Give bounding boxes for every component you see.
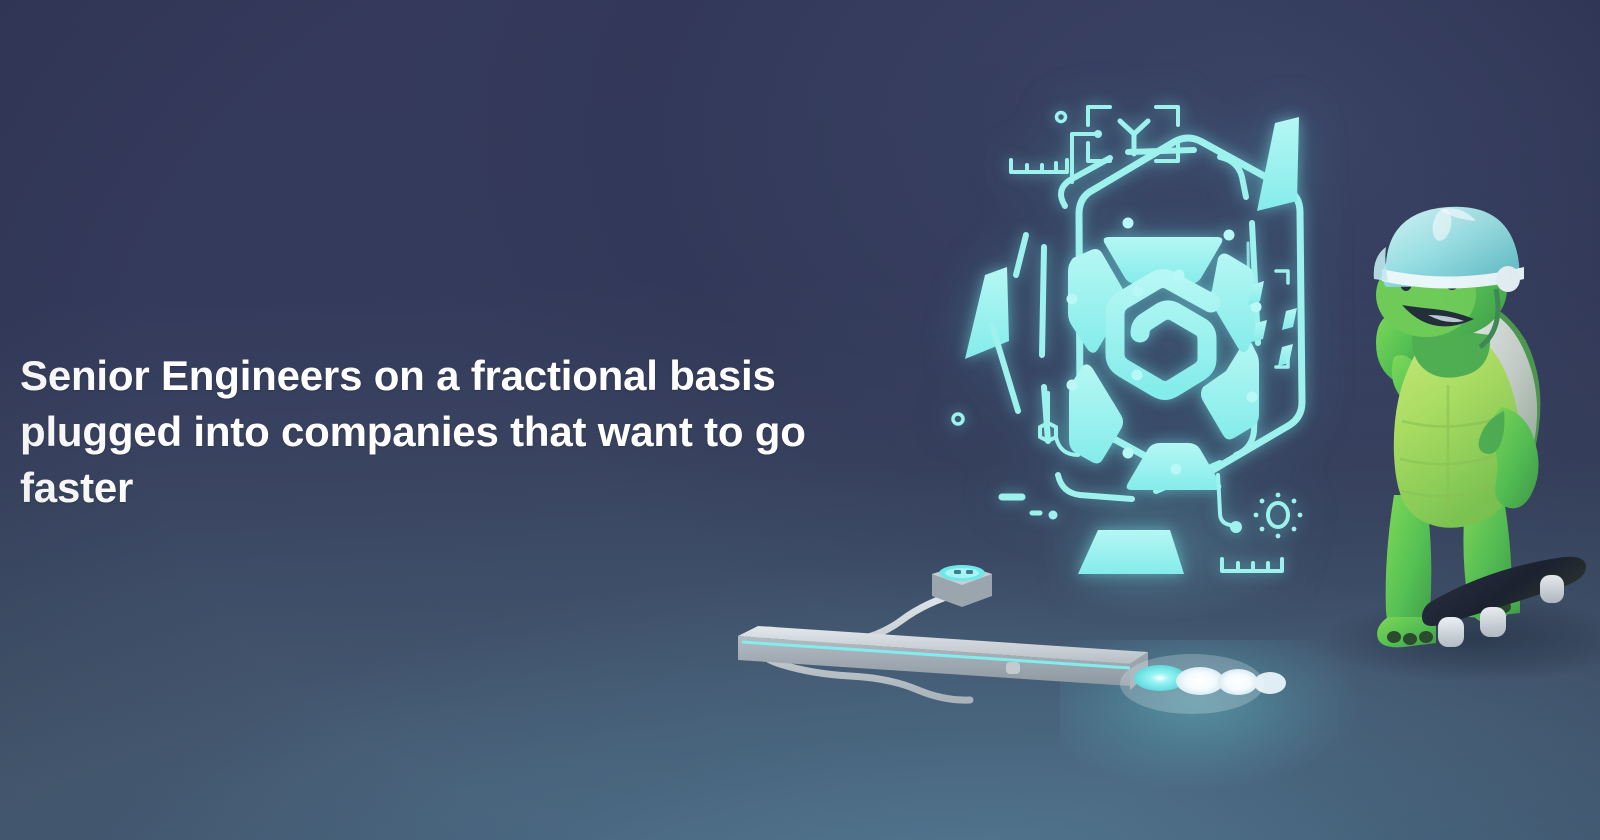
ruler-ticks-icon xyxy=(1011,160,1067,172)
hexagon-spiral-logo-hologram xyxy=(930,75,1350,595)
tiny-ring-icon xyxy=(953,414,963,424)
line-dot-marker xyxy=(1218,475,1230,525)
skateboard xyxy=(1422,557,1586,647)
turtle-mascot xyxy=(1290,185,1600,660)
cable-connector xyxy=(1006,662,1020,674)
stray-line-left xyxy=(1016,235,1026,275)
glowing-light-bar-with-cable xyxy=(730,540,1330,770)
small-ring-icon xyxy=(1057,113,1066,122)
parallelogram-shard-left xyxy=(965,267,1009,359)
helmet-strap-knob xyxy=(1496,266,1520,292)
page-title: Senior Engineers on a fractional basis p… xyxy=(20,348,920,516)
hero-banner: Senior Engineers on a fractional basis p… xyxy=(0,0,1600,840)
hologram-inner-spiral xyxy=(1115,279,1211,391)
light-bar xyxy=(738,626,1148,690)
